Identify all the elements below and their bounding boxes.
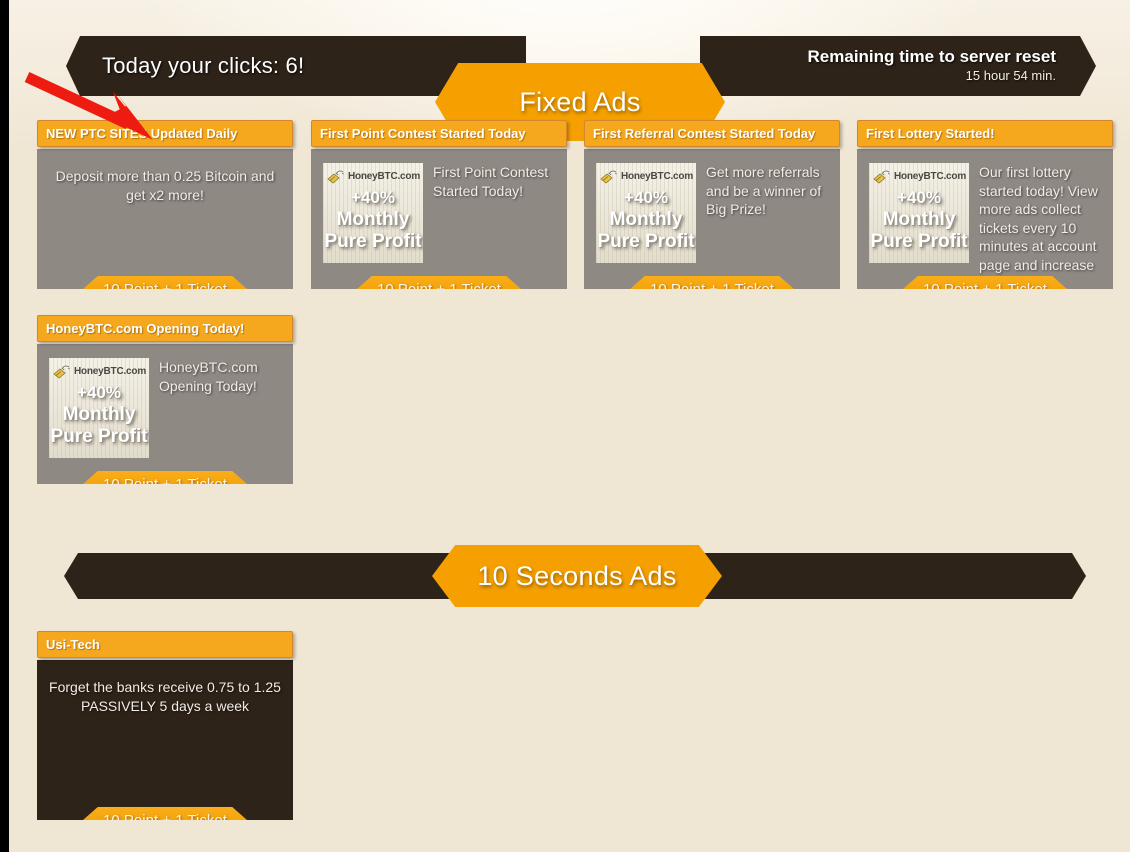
banner-line-1: +40% xyxy=(49,383,149,403)
banner-line-3: Pure Profit xyxy=(323,231,423,253)
honeybtc-wordmark: HoneyBTC.com xyxy=(348,171,420,182)
ad-card-description: Deposit more than 0.25 Bitcoin and get x… xyxy=(49,167,281,204)
reward-badge-label: 10 Point + 1 Ticket xyxy=(103,812,227,821)
bee-icon xyxy=(599,170,618,184)
reward-badge: 10 Point + 1 Ticket xyxy=(630,276,794,289)
ad-card-description: HoneyBTC.com Opening Today! xyxy=(159,358,281,474)
ad-card-title: NEW PTC SITES Updated Daily xyxy=(46,126,237,141)
banner-line-3: Pure Profit xyxy=(869,231,969,253)
fixed-ads-section-title: Fixed Ads xyxy=(519,87,640,118)
reward-badge-label: 10 Point + 1 Ticket xyxy=(103,476,227,485)
bee-icon xyxy=(326,170,345,184)
ten-seconds-ads-section-title: 10 Seconds Ads xyxy=(477,561,676,592)
ad-card-body[interactable]: HoneyBTC.com+40%MonthlyPure ProfitOur fi… xyxy=(857,149,1113,289)
bee-icon xyxy=(52,365,71,379)
ad-card-description: Get more referrals and be a winner of Bi… xyxy=(706,163,828,279)
ad-card-title-bar[interactable]: NEW PTC SITES Updated Daily xyxy=(37,120,293,147)
reward-badge: 10 Point + 1 Ticket xyxy=(83,807,247,820)
ad-card-description: First Point Contest Started Today! xyxy=(433,163,555,279)
ad-card-body[interactable]: HoneyBTC.com+40%MonthlyPure ProfitFirst … xyxy=(311,149,567,289)
ad-card[interactable]: HoneyBTC.com Opening Today!HoneyBTC.com+… xyxy=(37,315,293,484)
reward-badge: 10 Point + 1 Ticket xyxy=(83,276,247,289)
ad-card-description: Our first lottery started today! View mo… xyxy=(979,163,1101,279)
left-edge-gutter xyxy=(0,0,9,852)
ad-card-title-bar[interactable]: Usi-Tech xyxy=(37,631,293,658)
reward-badge-label: 10 Point + 1 Ticket xyxy=(377,281,501,290)
page-header: Today your clicks: 6! Remaining time to … xyxy=(0,36,1130,96)
banner-line-1: +40% xyxy=(596,188,696,208)
reward-badge-label: 10 Point + 1 Ticket xyxy=(650,281,774,290)
banner-line-1: +40% xyxy=(323,188,423,208)
banner-line-1: +40% xyxy=(869,188,969,208)
page-content: Today your clicks: 6! Remaining time to … xyxy=(0,0,1130,852)
reward-badge: 10 Point + 1 Ticket xyxy=(83,471,247,484)
reward-badge: 10 Point + 1 Ticket xyxy=(903,276,1067,289)
ad-card-title-bar[interactable]: First Referral Contest Started Today xyxy=(584,120,840,147)
ad-card[interactable]: First Point Contest Started TodayHoneyBT… xyxy=(311,120,567,289)
honeybtc-logo: HoneyBTC.com xyxy=(596,168,696,185)
honeybtc-logo: HoneyBTC.com xyxy=(323,168,423,185)
ad-card-title: First Lottery Started! xyxy=(866,126,995,141)
banner-line-2: Monthly xyxy=(869,209,969,231)
honeybtc-wordmark: HoneyBTC.com xyxy=(74,366,146,377)
ad-card[interactable]: First Lottery Started!HoneyBTC.com+40%Mo… xyxy=(857,120,1113,289)
ad-card-title-bar[interactable]: First Lottery Started! xyxy=(857,120,1113,147)
ad-card-body[interactable]: Forget the banks receive 0.75 to 1.25 PA… xyxy=(37,660,293,820)
banner-line-3: Pure Profit xyxy=(49,426,149,448)
ten-seconds-ads-section-banner: 10 Seconds Ads xyxy=(432,545,722,607)
honeybtc-banner-image: HoneyBTC.com+40%MonthlyPure Profit xyxy=(49,358,149,458)
reward-badge-label: 10 Point + 1 Ticket xyxy=(103,281,227,290)
banner-line-2: Monthly xyxy=(323,209,423,231)
ad-card-body[interactable]: HoneyBTC.com+40%MonthlyPure ProfitGet mo… xyxy=(584,149,840,289)
ad-card[interactable]: First Referral Contest Started TodayHone… xyxy=(584,120,840,289)
reward-badge: 10 Point + 1 Ticket xyxy=(357,276,521,289)
ten-seconds-ads-divider: 10 Seconds Ads xyxy=(0,545,1130,603)
honeybtc-logo: HoneyBTC.com xyxy=(49,363,149,380)
honeybtc-banner-image: HoneyBTC.com+40%MonthlyPure Profit xyxy=(323,163,423,263)
honeybtc-wordmark: HoneyBTC.com xyxy=(621,171,693,182)
ad-card-description: Forget the banks receive 0.75 to 1.25 PA… xyxy=(49,678,281,715)
honeybtc-banner-image: HoneyBTC.com+40%MonthlyPure Profit xyxy=(596,163,696,263)
ad-card-body[interactable]: HoneyBTC.com+40%MonthlyPure ProfitHoneyB… xyxy=(37,344,293,484)
ad-card-title: First Referral Contest Started Today xyxy=(593,126,815,141)
honeybtc-banner-image: HoneyBTC.com+40%MonthlyPure Profit xyxy=(869,163,969,263)
reward-badge-label: 10 Point + 1 Ticket xyxy=(923,281,1047,290)
ad-card[interactable]: NEW PTC SITES Updated DailyDeposit more … xyxy=(37,120,293,289)
ad-card-title: First Point Contest Started Today xyxy=(320,126,526,141)
server-reset-title: Remaining time to server reset xyxy=(808,47,1056,67)
banner-line-2: Monthly xyxy=(49,404,149,426)
server-reset-plaque: Remaining time to server reset 15 hour 5… xyxy=(700,36,1096,96)
honeybtc-logo: HoneyBTC.com xyxy=(869,168,969,185)
banner-line-2: Monthly xyxy=(596,209,696,231)
today-clicks-label: Today your clicks: 6! xyxy=(102,53,304,79)
honeybtc-wordmark: HoneyBTC.com xyxy=(894,171,966,182)
bee-icon xyxy=(872,170,891,184)
ad-card[interactable]: Usi-TechForget the banks receive 0.75 to… xyxy=(37,631,293,820)
ad-card-title: HoneyBTC.com Opening Today! xyxy=(46,321,244,336)
ad-card-title-bar[interactable]: First Point Contest Started Today xyxy=(311,120,567,147)
ad-card-title-bar[interactable]: HoneyBTC.com Opening Today! xyxy=(37,315,293,342)
ad-card-title: Usi-Tech xyxy=(46,637,100,652)
ad-card-body[interactable]: Deposit more than 0.25 Bitcoin and get x… xyxy=(37,149,293,289)
server-reset-countdown: 15 hour 54 min. xyxy=(966,68,1056,85)
banner-line-3: Pure Profit xyxy=(596,231,696,253)
